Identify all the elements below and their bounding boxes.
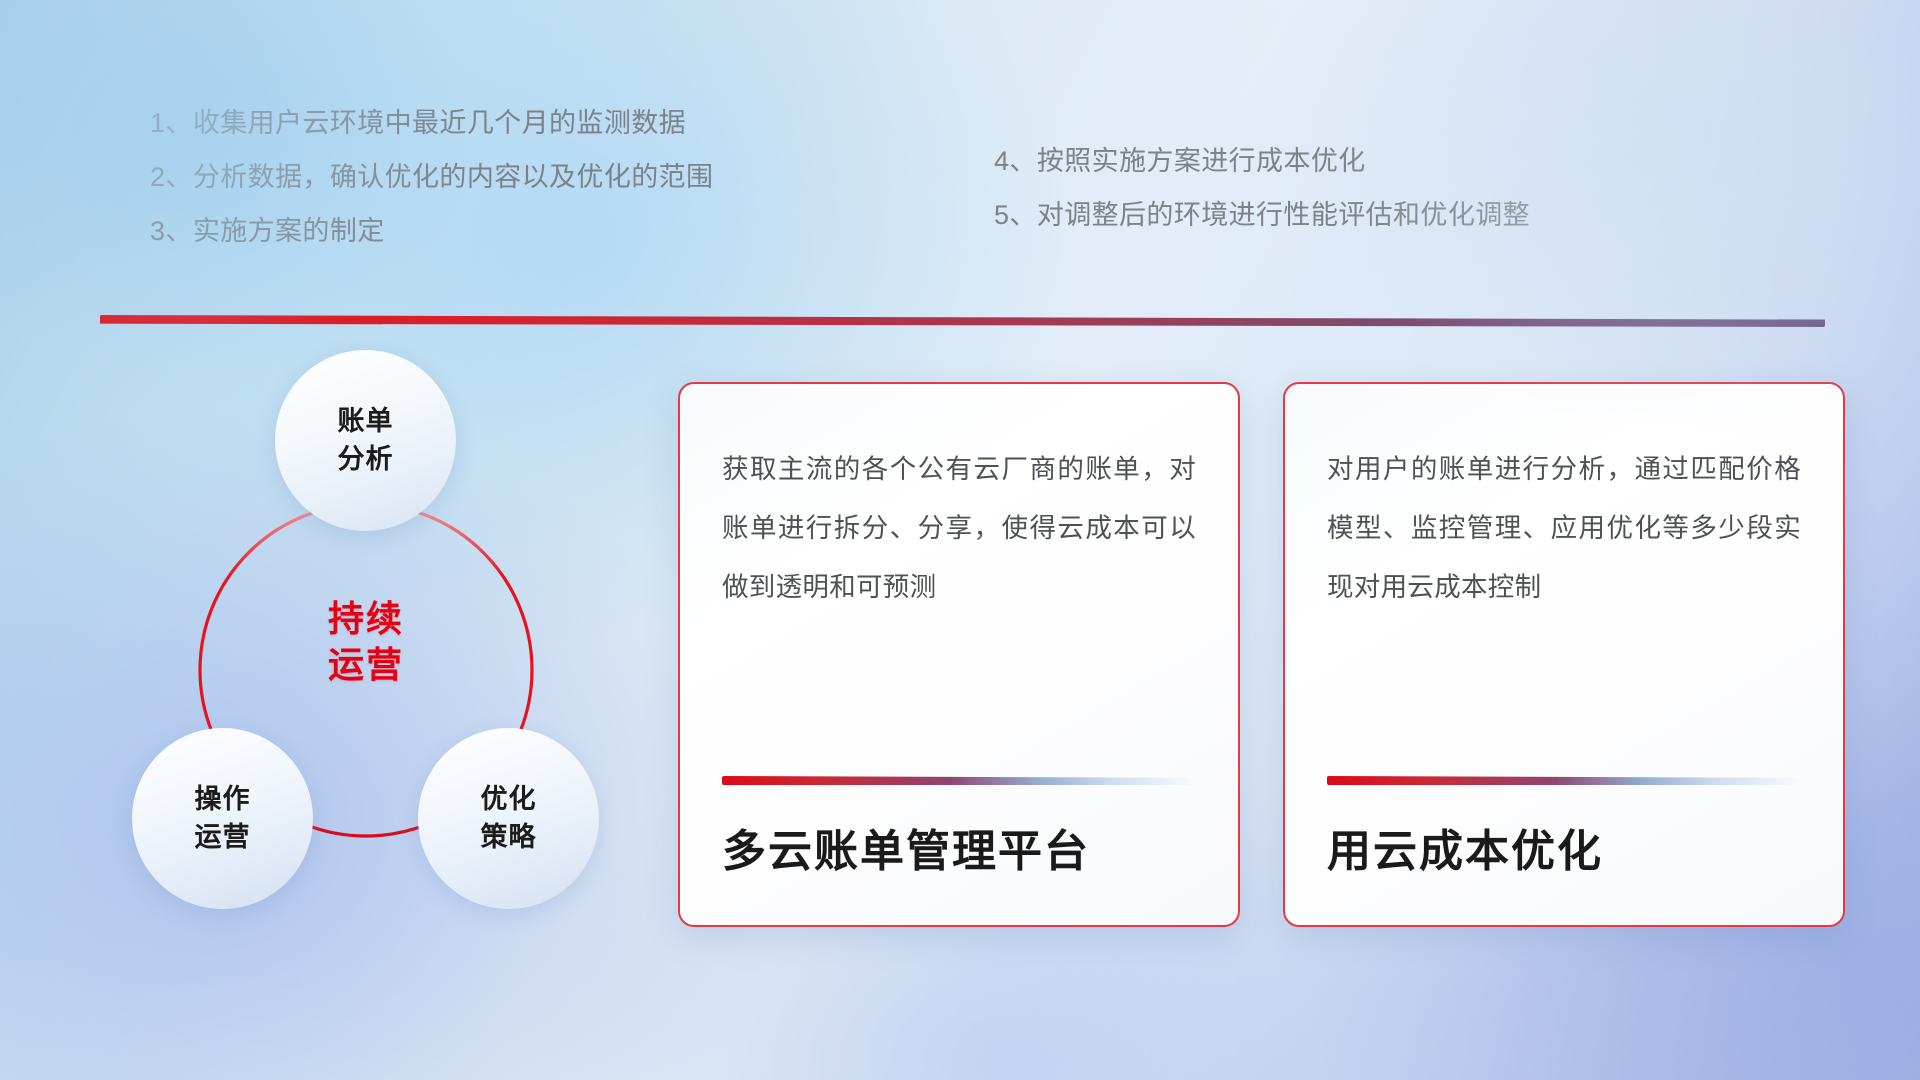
bubble-label-line1: 优化 (481, 781, 537, 818)
slide-canvas: 1、收集用户云环境中最近几个月的监测数据 2、分析数据，确认优化的内容以及优化的… (0, 0, 1920, 1080)
feature-card-cloud-cost-optimization[interactable]: 对用户的账单进行分析，通过匹配价格模型、监控管理、应用优化等多少段实现对用云成本… (1283, 382, 1845, 927)
section-divider (100, 315, 1825, 327)
venn-center-line2: 运营 (328, 642, 404, 688)
steps-left-column: 1、收集用户云环境中最近几个月的监测数据 2、分析数据，确认优化的内容以及优化的… (150, 96, 713, 258)
card-body-text: 对用户的账单进行分析，通过匹配价格模型、监控管理、应用优化等多少段实现对用云成本… (1327, 440, 1801, 617)
step-item-2: 2、分析数据，确认优化的内容以及优化的范围 (150, 150, 713, 204)
venn-center-line1: 持续 (328, 596, 404, 642)
venn-bubble-optimization-strategy[interactable]: 优化 策略 (418, 728, 599, 909)
card-title: 用云成本优化 (1327, 815, 1801, 879)
step-item-4: 4、按照实施方案进行成本优化 (994, 134, 1530, 188)
step-item-5: 5、对调整后的环境进行性能评估和优化调整 (994, 188, 1530, 242)
venn-center-label: 持续 运营 (276, 582, 456, 702)
bubble-label-line2: 分析 (338, 441, 394, 478)
bubble-label-line1: 操作 (195, 781, 251, 818)
card-accent-rule (722, 776, 1196, 785)
venn-bubble-operation-ops[interactable]: 操作 运营 (132, 728, 313, 909)
feature-card-multi-cloud-billing-platform[interactable]: 获取主流的各个公有云厂商的账单，对账单进行拆分、分享，使得云成本可以做到透明和可… (678, 382, 1240, 927)
step-item-3: 3、实施方案的制定 (150, 204, 713, 258)
venn-diagram: 账单 分析 操作 运营 优化 策略 持续 运营 (96, 350, 616, 960)
card-accent-rule (1327, 776, 1801, 785)
card-body-text: 获取主流的各个公有云厂商的账单，对账单进行拆分、分享，使得云成本可以做到透明和可… (722, 440, 1196, 617)
venn-bubble-billing-analysis[interactable]: 账单 分析 (275, 350, 456, 531)
bubble-label-line1: 账单 (338, 403, 394, 440)
bubble-label-line2: 策略 (481, 819, 537, 856)
divider-bar (100, 315, 1825, 327)
bubble-label-line2: 运营 (195, 819, 251, 856)
step-item-1: 1、收集用户云环境中最近几个月的监测数据 (150, 96, 713, 150)
card-title: 多云账单管理平台 (722, 815, 1196, 879)
steps-right-column: 4、按照实施方案进行成本优化 5、对调整后的环境进行性能评估和优化调整 (994, 134, 1530, 242)
